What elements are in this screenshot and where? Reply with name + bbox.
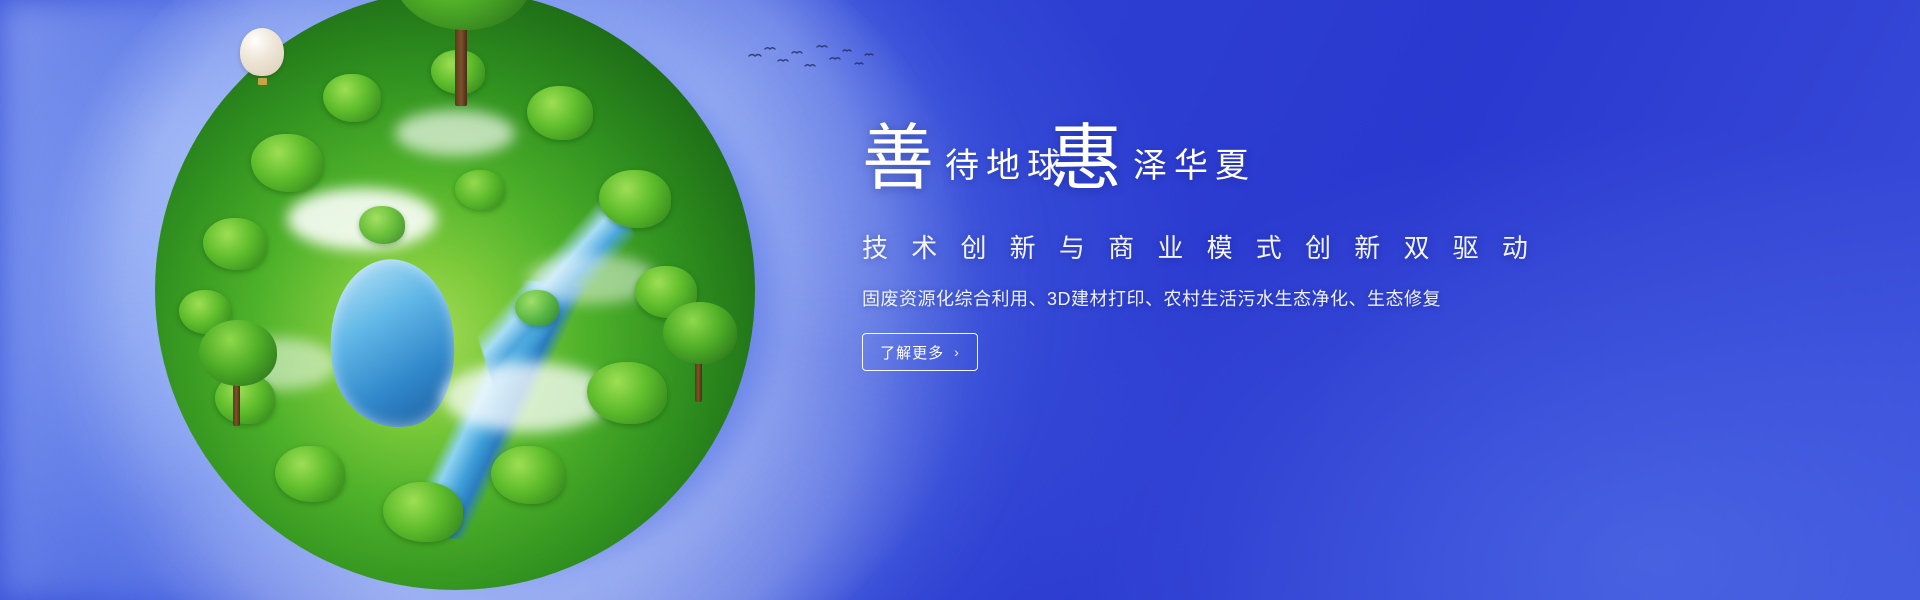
cloud-icon <box>395 110 515 156</box>
bush-shape <box>251 134 323 192</box>
headline-small-text-2: 泽华夏 <box>1133 148 1256 185</box>
headline-group-1: 善待地球 <box>862 120 1068 206</box>
headline-big-char-2: 惠 <box>1050 119 1123 199</box>
birds-flock-icon <box>745 42 875 82</box>
bush-shape <box>599 170 671 228</box>
bush-shape <box>275 446 345 502</box>
learn-more-label: 了解更多 <box>880 342 944 363</box>
bush-shape <box>527 86 593 140</box>
hero-subtitle: 技 术 创 新 与 商 业 模 式 创 新 双 驱 动 <box>862 228 1742 265</box>
hot-air-balloon-icon <box>240 28 284 84</box>
bush-shape <box>515 290 559 326</box>
headline-big-char-1: 善 <box>862 119 935 199</box>
headline-group-2: 惠泽华夏 <box>1050 120 1256 206</box>
bush-shape <box>203 218 267 270</box>
hero-content: 善待地球 惠泽华夏 技 术 创 新 与 商 业 模 式 创 新 双 驱 动 固废… <box>862 120 1742 371</box>
bush-shape <box>383 482 463 542</box>
hero-description: 固废资源化综合利用、3D建材打印、农村生活污水生态净化、生态修复 <box>862 285 1742 311</box>
bush-shape <box>491 446 565 504</box>
hero-headline: 善待地球 惠泽华夏 <box>862 120 1742 212</box>
learn-more-button[interactable]: 了解更多 › <box>862 333 978 371</box>
chevron-right-icon: › <box>954 345 960 359</box>
hero-banner: 善待地球 惠泽华夏 技 术 创 新 与 商 业 模 式 创 新 双 驱 动 固废… <box>0 0 1920 600</box>
bush-shape <box>323 74 381 122</box>
tiny-planet-globe-image <box>155 0 785 600</box>
bush-shape <box>359 206 405 244</box>
bush-shape <box>455 170 505 210</box>
bush-shape <box>587 362 667 424</box>
cta-container: 了解更多 › <box>862 311 1742 371</box>
